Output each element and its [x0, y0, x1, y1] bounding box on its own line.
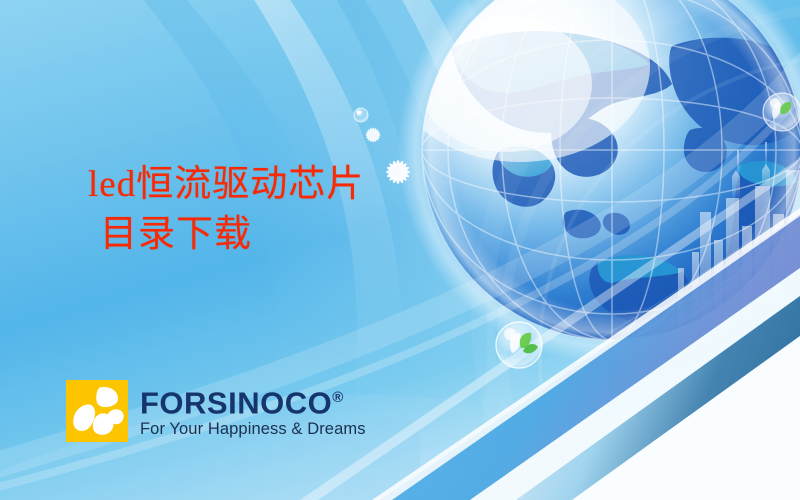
logo-tagline: For Your Happiness & Dreams [140, 420, 366, 439]
logo-text-block: FORSINOCO® For Your Happiness & Dreams [140, 380, 366, 439]
logo-wordmark: FORSINOCO® [140, 382, 366, 419]
registered-trademark-icon: ® [332, 389, 343, 406]
bubble-small-right [763, 93, 800, 131]
pinwheel-petals-icon [66, 380, 128, 442]
company-logo: FORSINOCO® For Your Happiness & Dreams [66, 380, 366, 442]
logo-mark-square [66, 380, 128, 442]
logo-wordmark-text: FORSINOCO [140, 385, 332, 420]
bubble-leaf [496, 322, 542, 368]
slide-canvas: led恒流驱动芯片 目录下载 FORSINOCO® For Your Happi… [0, 0, 800, 500]
